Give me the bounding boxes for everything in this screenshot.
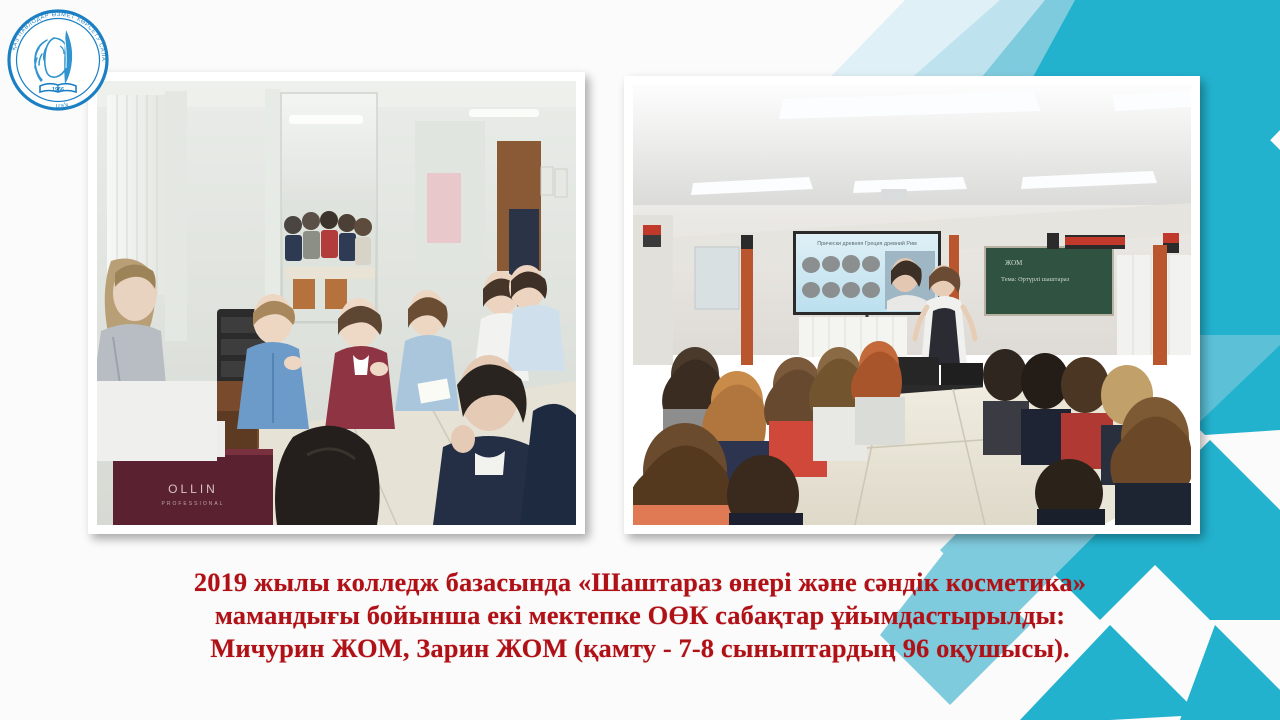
svg-text:ЖОМ: ЖОМ <box>1005 259 1023 267</box>
photo-lecture-classroom-image: Прически древняя Греция древний Рим <box>633 85 1191 525</box>
photo-salon-classroom-image: OLLIN PROFESSIONAL <box>97 81 576 525</box>
svg-text:PROFESSIONAL: PROFESSIONAL <box>162 501 225 507</box>
svg-text:Тема: Әртүрлі шаштараз: Тема: Әртүрлі шаштараз <box>1001 276 1070 283</box>
presentation-slide: ҚАЗ ПАВЛОДАР ӨЗМЕТ КӨРСЕТУ САЛАСЫ КОЛЛЕД… <box>0 0 1280 720</box>
svg-text:Прически древняя Греция древни: Прически древняя Греция древний Рим <box>817 240 917 247</box>
caption-line-1: 2019 жылы колледж базасында «Шаштараз өн… <box>0 566 1280 599</box>
photo-lecture-classroom: Прически древняя Греция древний Рим <box>624 76 1200 534</box>
slide-caption: 2019 жылы колледж базасында «Шаштараз өн… <box>0 566 1280 665</box>
svg-text:OLLIN: OLLIN <box>168 482 218 496</box>
caption-line-3: Мичурин ЖОМ, Зарин ЖОМ (қамту - 7-8 сыны… <box>0 632 1280 665</box>
svg-text:1966: 1966 <box>52 87 64 93</box>
svg-text:ҚКП: ҚКП <box>55 101 68 108</box>
caption-line-2: мамандығы бойынша екі мектепке ОӨК сабақ… <box>0 599 1280 632</box>
college-logo-icon: ҚАЗ ПАВЛОДАР ӨЗМЕТ КӨРСЕТУ САЛАСЫ КОЛЛЕД… <box>6 8 110 112</box>
photo-salon-classroom: OLLIN PROFESSIONAL <box>88 72 585 534</box>
